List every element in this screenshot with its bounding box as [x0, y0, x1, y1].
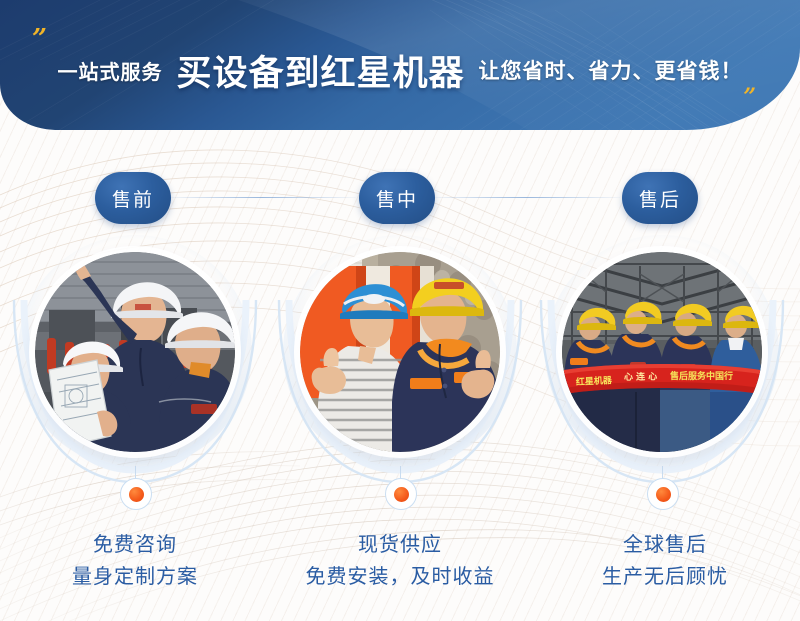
caption-aftersale-line2: 生产无后顾忧 [565, 560, 765, 592]
marker-dot-2 [385, 478, 417, 510]
step-pill-aftersale[interactable]: 售后 [622, 172, 698, 224]
caption-insale: 现货供应 免费安装，及时收益 [285, 528, 515, 592]
photo-presale [35, 252, 235, 452]
connector-line-2 [432, 197, 620, 198]
caption-presale: 免费咨询 量身定制方案 [35, 528, 235, 592]
step-pill-aftersale-label: 售后 [639, 185, 681, 212]
banner-headline: 买设备到红星机器 [176, 45, 464, 96]
connector-line-1 [168, 197, 356, 198]
caption-insale-line2: 免费安装，及时收益 [285, 560, 515, 592]
orange-dot-icon [129, 487, 144, 502]
marker-dot-1 [120, 478, 152, 510]
svg-text:心 连 心: 心 连 心 [624, 370, 657, 383]
banner-tagline: 一站式服务 [57, 56, 162, 85]
caption-aftersale: 全球售后 生产无后顾忧 [565, 528, 765, 592]
caption-insale-line1: 现货供应 [358, 532, 442, 556]
banner-subline: 让您省时、省力、更省钱！ [479, 55, 743, 85]
svg-text:售后服务中国行: 售后服务中国行 [669, 370, 733, 382]
quote-mark-top-left: ” [32, 26, 47, 52]
header-banner: ” ” 一站式服务 买设备到红星机器 让您省时、省力、更省钱！ [0, 0, 800, 140]
orange-dot-icon [394, 487, 409, 502]
caption-presale-line1: 免费咨询 [93, 532, 177, 556]
service-promo-page: ” ” 一站式服务 买设备到红星机器 让您省时、省力、更省钱！ 售前 售中 售后 [0, 0, 800, 621]
photo-aftersale: 红星机器 心 连 心 售后服务中国行 [562, 252, 762, 452]
orange-dot-icon [656, 487, 671, 502]
marker-dot-3 [647, 478, 679, 510]
step-pill-insale[interactable]: 售中 [359, 172, 435, 224]
step-pill-presale[interactable]: 售前 [95, 172, 171, 224]
caption-presale-line2: 量身定制方案 [35, 560, 235, 592]
step-pill-insale-label: 售中 [376, 185, 418, 212]
photo-insale [300, 252, 500, 452]
quote-mark-bottom-right: ” [743, 86, 756, 108]
step-pill-presale-label: 售前 [112, 185, 154, 212]
caption-aftersale-line1: 全球售后 [623, 532, 707, 556]
